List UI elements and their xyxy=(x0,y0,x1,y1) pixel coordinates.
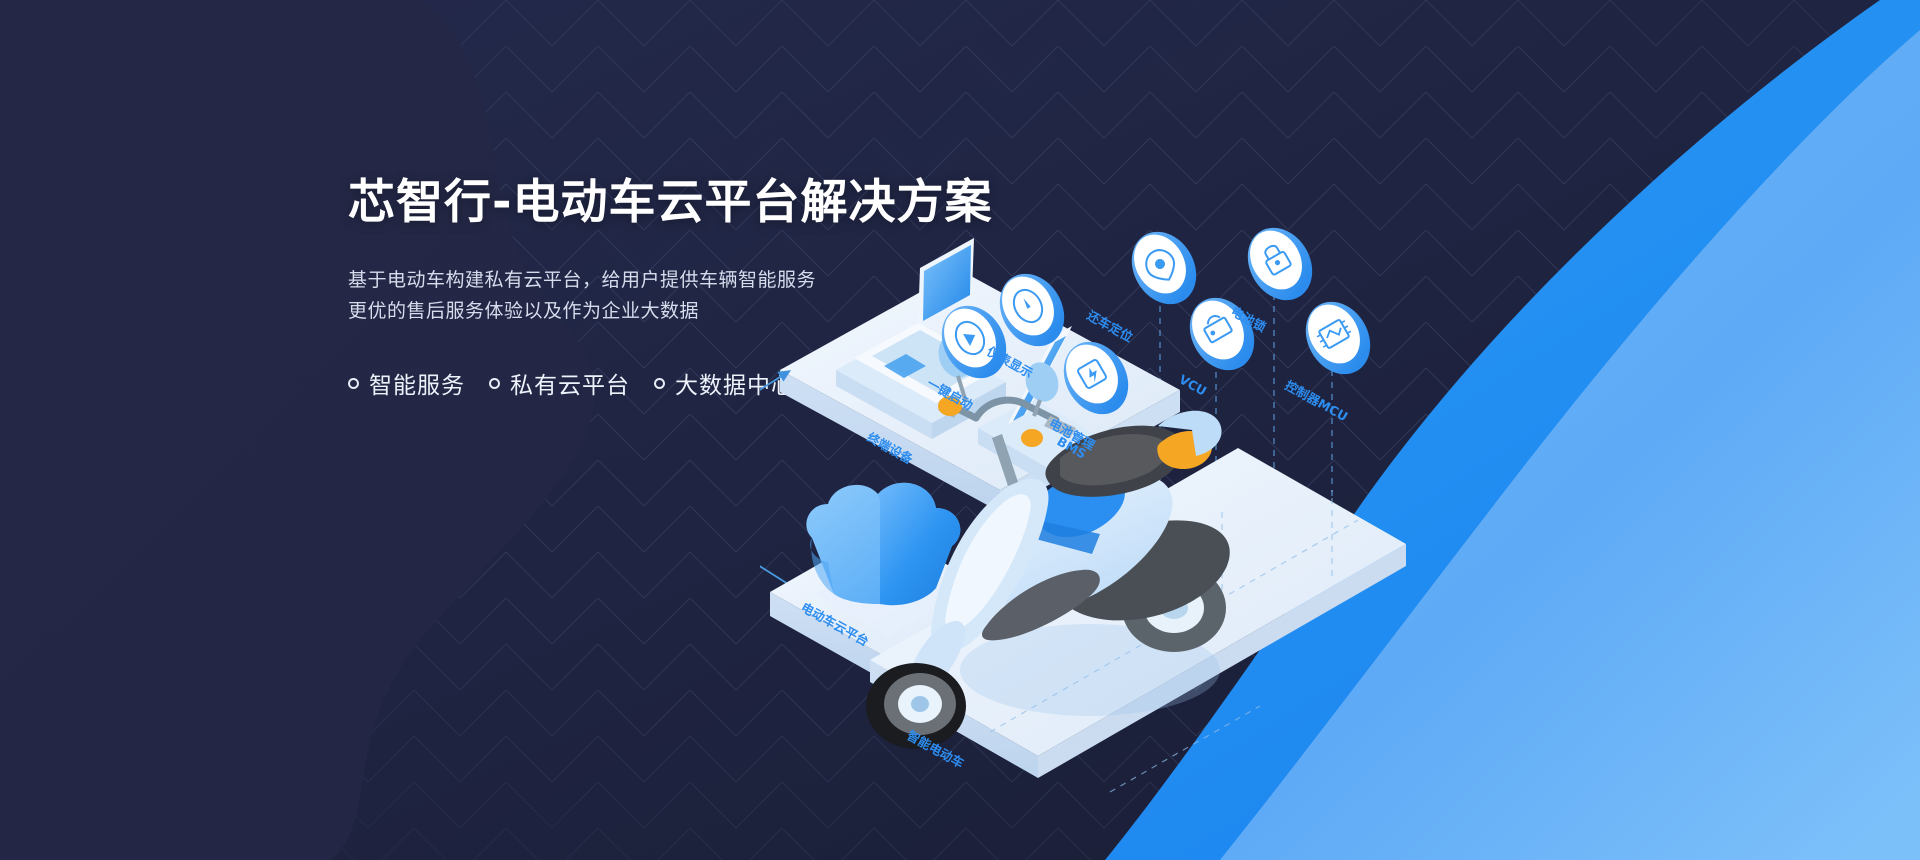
isometric-illustration: 终端设备 电动车云平台 xyxy=(760,190,1920,860)
circle-bullet-icon xyxy=(348,378,359,389)
feature-label: 智能服务 xyxy=(369,366,465,400)
feature-item-intelligent-service[interactable]: 智能服务 xyxy=(348,366,465,400)
scooter-indicator-right-icon xyxy=(1021,429,1043,447)
banner-root: 芯智行-电动车云平台解决方案 基于电动车构建私有云平台，给用户提供车辆智能服务 … xyxy=(0,0,1920,860)
feature-label: 私有云平台 xyxy=(510,366,630,400)
feature-item-private-cloud[interactable]: 私有云平台 xyxy=(489,366,630,400)
circle-bullet-icon xyxy=(489,378,500,389)
badge-label: 控制器MCU xyxy=(1283,378,1351,425)
badge-label: VCU xyxy=(1177,372,1210,399)
badge-vcu[interactable]: VCU xyxy=(1177,286,1267,399)
circle-bullet-icon xyxy=(654,378,665,389)
badge-label: 还车定位 xyxy=(1084,307,1136,345)
badge-mcu[interactable]: 控制器MCU xyxy=(1283,290,1383,424)
